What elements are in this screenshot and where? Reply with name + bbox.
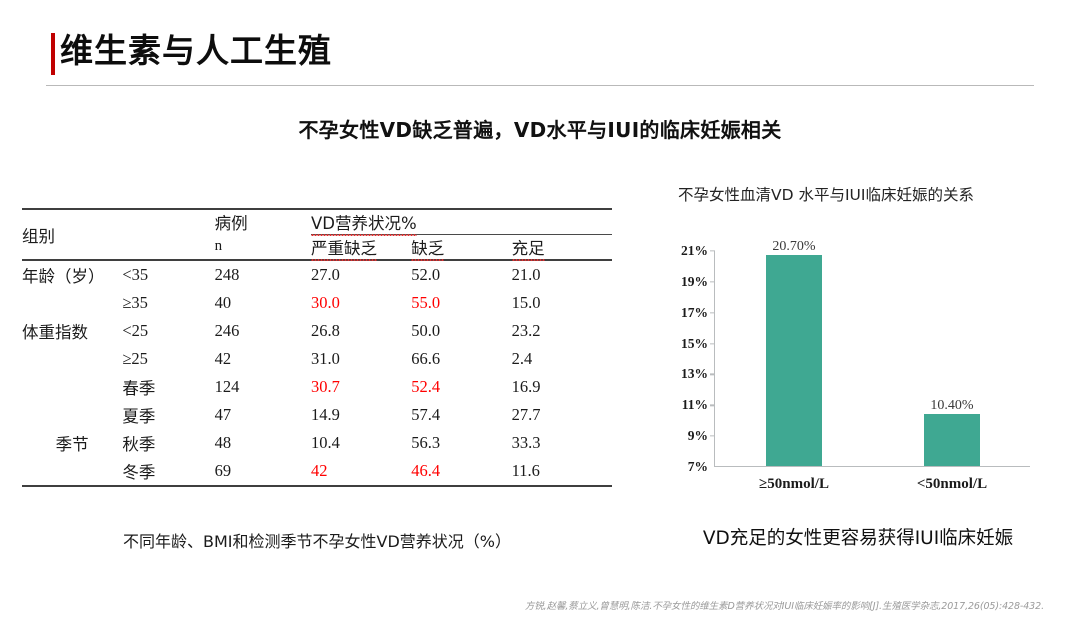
y-axis-tick-mark	[710, 312, 715, 313]
table-row: 春季12430.752.416.9	[22, 373, 612, 401]
row-severe-deficiency: 30.0	[311, 289, 411, 317]
chart-plot-area: 21%19%17%15%13%11%9%7%20.70%≥50nmol/L10.…	[714, 251, 1030, 467]
row-subgroup: 冬季	[122, 457, 214, 486]
table-head: 组别 病例 VD营养状况% n 严重缺乏 缺乏 充足	[22, 209, 612, 260]
row-group-label	[22, 373, 122, 401]
title-accent-bar	[51, 33, 55, 75]
row-deficiency: 55.0	[411, 289, 511, 317]
y-axis-tick-label: 11%	[682, 397, 708, 413]
row-severe-deficiency: 30.7	[311, 373, 411, 401]
row-cases-n: 42	[215, 345, 311, 373]
y-axis-tick-label: 21%	[681, 243, 708, 259]
row-subgroup: 夏季	[122, 401, 214, 429]
header-cases-n: n	[215, 235, 311, 261]
row-deficiency: 52.4	[411, 373, 511, 401]
table-row: 年龄（岁）<3524827.052.021.0	[22, 260, 612, 289]
row-group-label	[22, 401, 122, 429]
bar-value-label: 10.40%	[930, 398, 973, 415]
row-sufficiency: 11.6	[512, 457, 612, 486]
row-sufficiency: 27.7	[512, 401, 612, 429]
row-deficiency: 57.4	[411, 401, 511, 429]
row-subgroup: <35	[122, 260, 214, 289]
table-row: ≥354030.055.015.0	[22, 289, 612, 317]
y-axis-tick-mark	[710, 374, 715, 375]
row-subgroup: ≥35	[122, 289, 214, 317]
bar-chart: 21%19%17%15%13%11%9%7%20.70%≥50nmol/L10.…	[668, 243, 1040, 488]
header-group: 组别	[22, 209, 122, 260]
table-row: 夏季4714.957.427.7	[22, 401, 612, 429]
y-axis-tick-mark	[710, 281, 715, 282]
slide-subtitle: 不孕女性VD缺乏普遍，VD水平与IUI的临床妊娠相关	[0, 114, 1080, 143]
page-title: 维生素与人工生殖	[60, 30, 332, 72]
x-axis-tick-label: <50nmol/L	[917, 476, 987, 493]
row-cases-n: 40	[215, 289, 311, 317]
chart-title: 不孕女性血清VD 水平与IUI临床妊娠的关系	[678, 183, 974, 205]
row-deficiency: 46.4	[411, 457, 511, 486]
header-deficiency-text: 缺乏	[411, 239, 444, 261]
header-vd-status-text: VD营养状况%	[311, 214, 417, 236]
vd-status-table-panel: 组别 病例 VD营养状况% n 严重缺乏 缺乏 充足 年龄（岁）<	[22, 208, 612, 487]
table-caption: 不同年龄、BMI和检测季节不孕女性VD营养状况（%）	[22, 528, 612, 552]
bar-value-label: 20.70%	[772, 239, 815, 256]
header-divider	[46, 85, 1034, 86]
header-deficiency: 缺乏	[411, 235, 511, 261]
row-deficiency: 56.3	[411, 429, 511, 457]
slide-header: 维生素与人工生殖	[0, 0, 1080, 92]
row-sufficiency: 16.9	[512, 373, 612, 401]
table-row: 冬季694246.411.6	[22, 457, 612, 486]
header-sufficiency-text: 充足	[512, 239, 545, 261]
row-sufficiency: 15.0	[512, 289, 612, 317]
table-header-row-1: 组别 病例 VD营养状况%	[22, 209, 612, 235]
y-axis-tick-mark	[710, 343, 715, 344]
row-deficiency: 66.6	[411, 345, 511, 373]
y-axis-tick-mark	[710, 435, 715, 436]
header-severe-deficiency-text: 严重缺乏	[311, 239, 377, 261]
row-sufficiency: 21.0	[512, 260, 612, 289]
y-axis-tick-label: 15%	[681, 336, 708, 352]
header-severe-deficiency: 严重缺乏	[311, 235, 411, 261]
y-axis-tick-label: 9%	[688, 428, 708, 444]
table-row: ≥254231.066.62.4	[22, 345, 612, 373]
chart-bar	[924, 414, 980, 466]
header-sufficiency: 充足	[512, 235, 612, 261]
y-axis-tick-label: 17%	[681, 305, 708, 321]
row-cases-n: 47	[215, 401, 311, 429]
header-subgroup-spacer	[122, 209, 214, 260]
row-subgroup: ≥25	[122, 345, 214, 373]
y-axis-tick-label: 7%	[688, 459, 708, 475]
header-vd-status-span: VD营养状况%	[311, 209, 612, 235]
row-severe-deficiency: 26.8	[311, 317, 411, 345]
row-deficiency: 50.0	[411, 317, 511, 345]
row-group-label: 季节	[22, 429, 122, 457]
row-group-label: 年龄（岁）	[22, 260, 122, 289]
row-cases-n: 248	[215, 260, 311, 289]
row-severe-deficiency: 14.9	[311, 401, 411, 429]
row-cases-n: 124	[215, 373, 311, 401]
y-axis-tick-mark	[710, 405, 715, 406]
row-subgroup: 秋季	[122, 429, 214, 457]
y-axis-tick-label: 19%	[681, 274, 708, 290]
vd-status-table: 组别 病例 VD营养状况% n 严重缺乏 缺乏 充足 年龄（岁）<	[22, 208, 612, 487]
chart-bar	[766, 255, 822, 466]
row-group-label	[22, 289, 122, 317]
table-row: 体重指数<2524626.850.023.2	[22, 317, 612, 345]
footer-citation: 方锐,赵馨,蔡立义,曾慧明,陈洁.不孕女性的维生素D营养状况对IUI临床妊娠率的…	[0, 598, 1044, 612]
row-sufficiency: 23.2	[512, 317, 612, 345]
row-subgroup: <25	[122, 317, 214, 345]
row-sufficiency: 2.4	[512, 345, 612, 373]
row-severe-deficiency: 27.0	[311, 260, 411, 289]
x-axis-tick-label: ≥50nmol/L	[759, 476, 829, 493]
row-severe-deficiency: 10.4	[311, 429, 411, 457]
row-cases-n: 69	[215, 457, 311, 486]
row-subgroup: 春季	[122, 373, 214, 401]
row-group-label	[22, 345, 122, 373]
row-severe-deficiency: 31.0	[311, 345, 411, 373]
row-deficiency: 52.0	[411, 260, 511, 289]
row-severe-deficiency: 42	[311, 457, 411, 486]
row-group-label: 体重指数	[22, 317, 122, 345]
row-cases-n: 48	[215, 429, 311, 457]
header-cases: 病例	[215, 209, 311, 235]
table-row: 季节秋季4810.456.333.3	[22, 429, 612, 457]
row-cases-n: 246	[215, 317, 311, 345]
row-group-label	[22, 457, 122, 486]
y-axis-tick-label: 13%	[681, 366, 708, 382]
chart-caption: VD充足的女性更容易获得IUI临床妊娠	[668, 524, 1048, 550]
y-axis-tick-mark	[710, 250, 715, 251]
table-body: 年龄（岁）<3524827.052.021.0≥354030.055.015.0…	[22, 260, 612, 486]
row-sufficiency: 33.3	[512, 429, 612, 457]
